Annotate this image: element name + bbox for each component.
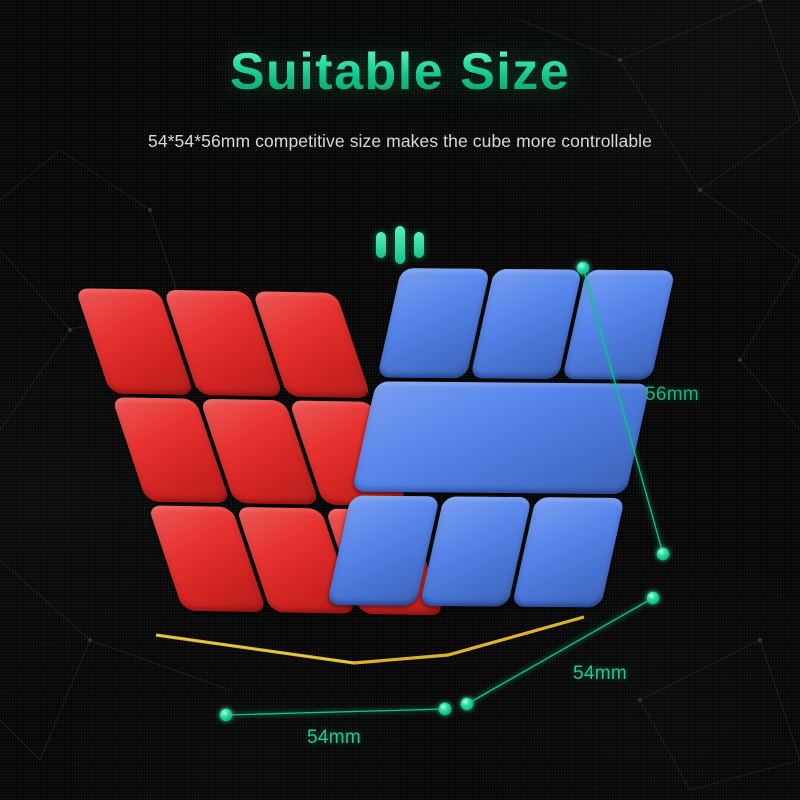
measure-label-56mm: 56mm xyxy=(645,384,699,406)
cube-sticker xyxy=(562,270,675,380)
pill-center-icon xyxy=(395,226,405,264)
cube-bottom-yellow-edge xyxy=(148,607,588,667)
pill-right-icon xyxy=(414,232,424,258)
poster-canvas: Suitable Size 54*54*56mm competitive siz… xyxy=(0,0,800,800)
cube-sticker-center-row xyxy=(352,382,650,494)
page-subtitle: 54*54*56mm competitive size makes the cu… xyxy=(0,131,800,152)
cube-sticker xyxy=(512,497,625,607)
page-title: Suitable Size xyxy=(0,42,800,102)
measure-label-54mm-width: 54mm xyxy=(307,727,361,749)
pill-left-icon xyxy=(376,232,386,258)
cube-face-right-blue xyxy=(327,268,676,607)
speed-cube-image xyxy=(120,250,640,710)
three-pill-divider xyxy=(0,226,800,264)
